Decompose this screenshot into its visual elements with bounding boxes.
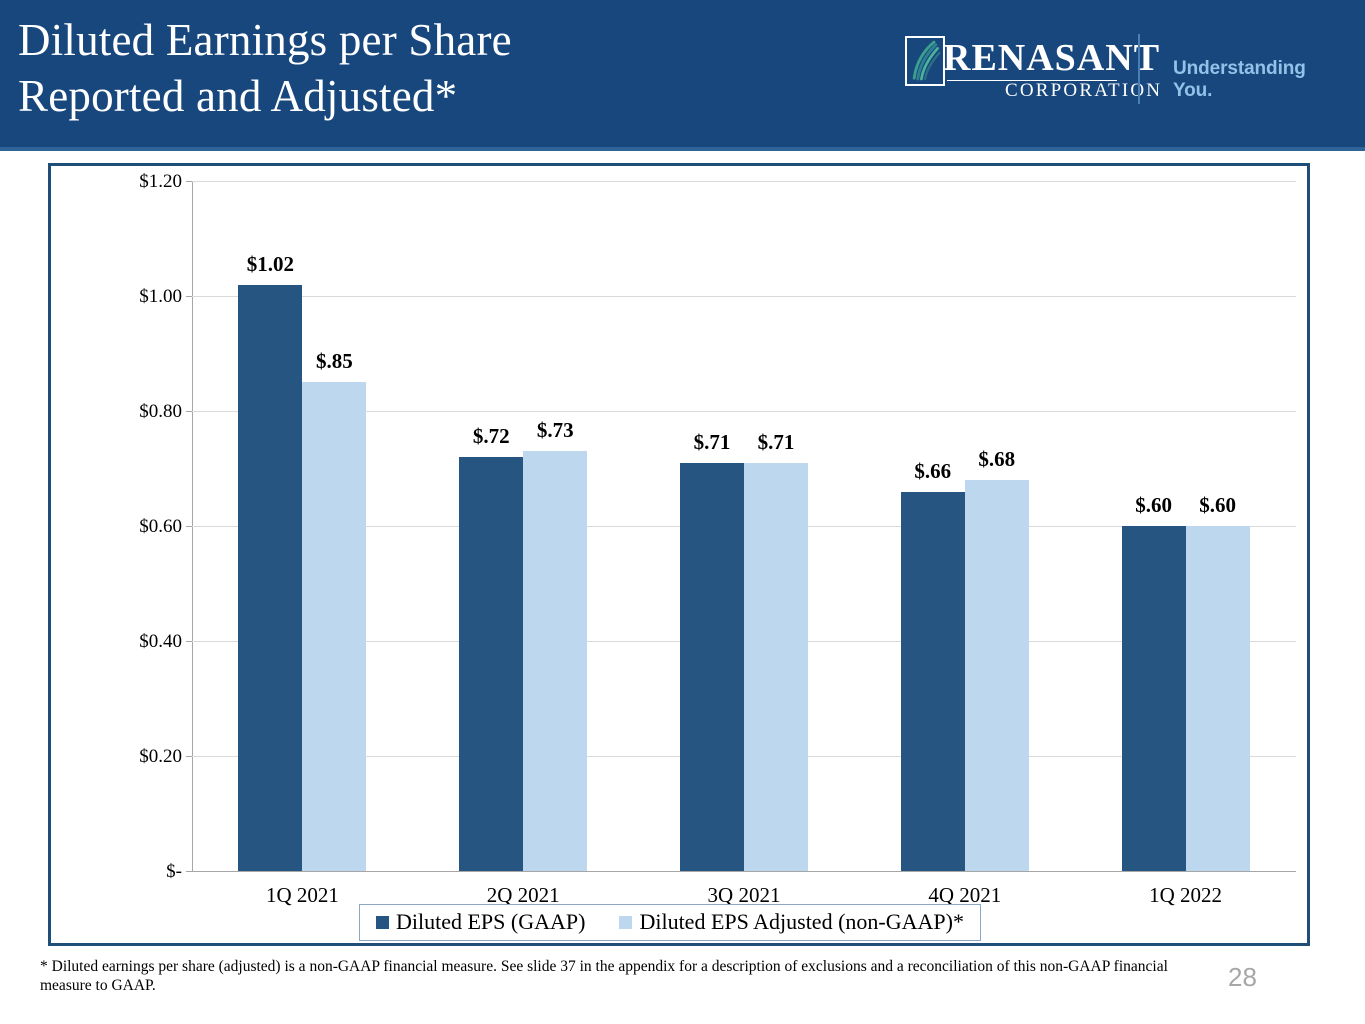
y-axis-tick: [186, 641, 192, 642]
renasant-logo: RENASANT CORPORATION Understanding You.: [905, 34, 1325, 106]
y-axis-tick-label: $0.80: [139, 402, 182, 421]
renasant-leaf-mark-icon: [905, 36, 945, 86]
legend-label-adjusted: Diluted EPS Adjusted (non-GAAP)*: [639, 911, 964, 933]
y-axis-tick: [186, 296, 192, 297]
y-axis-tick-label: $0.40: [139, 632, 182, 651]
bar-value-label: $.68: [947, 449, 1047, 470]
bar-gaap[interactable]: [1122, 526, 1186, 871]
page-title: Diluted Earnings per Share Reported and …: [18, 12, 838, 124]
bar-value-label: $.60: [1168, 495, 1268, 516]
y-axis-tick: [186, 526, 192, 527]
header-underline: [0, 147, 1365, 151]
bar-value-label: $.85: [284, 351, 384, 372]
chart-container: $1.20$1.00$0.80$0.60$0.40$0.20$- $1.02$.…: [48, 163, 1310, 946]
slide-root: Diluted Earnings per Share Reported and …: [0, 0, 1365, 1024]
x-axis-category-label: 4Q 2021: [854, 885, 1075, 906]
bar-adjusted[interactable]: [523, 451, 587, 871]
logo-wordmark: RENASANT: [943, 38, 1160, 78]
bar-gaap[interactable]: [901, 492, 965, 872]
y-axis-tick-label: $-: [166, 862, 182, 881]
legend-item-adjusted[interactable]: Diluted EPS Adjusted (non-GAAP)*: [619, 911, 964, 933]
bar-value-label: $.71: [726, 432, 826, 453]
y-axis-tick: [186, 756, 192, 757]
bar-adjusted[interactable]: [302, 382, 366, 871]
bar-gaap[interactable]: [238, 285, 302, 872]
bar-adjusted[interactable]: [1186, 526, 1250, 871]
legend-label-gaap: Diluted EPS (GAAP): [396, 911, 585, 933]
y-axis-tick: [186, 871, 192, 872]
gridline: [192, 871, 1296, 872]
plot-area: $1.02$.851Q 2021$.72$.732Q 2021$.71$.713…: [192, 181, 1296, 871]
y-axis-tick: [186, 181, 192, 182]
legend-item-gaap[interactable]: Diluted EPS (GAAP): [376, 911, 585, 933]
bar-gaap[interactable]: [680, 463, 744, 871]
y-axis-tick-label: $0.60: [139, 517, 182, 536]
bar-value-label: $.73: [505, 420, 605, 441]
legend-swatch-gaap-icon: [376, 916, 389, 929]
x-axis-category-label: 1Q 2022: [1075, 885, 1296, 906]
x-axis-category-label: 1Q 2021: [192, 885, 413, 906]
page-number: 28: [1228, 962, 1278, 992]
gridline: [192, 296, 1296, 297]
y-axis-labels: $1.20$1.00$0.80$0.60$0.40$0.20$-: [51, 181, 182, 871]
footnote: * Diluted earnings per share (adjusted) …: [40, 957, 1220, 995]
bar-adjusted[interactable]: [965, 480, 1029, 871]
chart-legend: Diluted EPS (GAAP) Diluted EPS Adjusted …: [359, 904, 981, 941]
y-axis-tick-label: $0.20: [139, 747, 182, 766]
bar-gaap[interactable]: [459, 457, 523, 871]
legend-swatch-adjusted-icon: [619, 916, 632, 929]
bar-adjusted[interactable]: [744, 463, 808, 871]
slide-header: Diluted Earnings per Share Reported and …: [0, 0, 1365, 147]
y-axis-tick-label: $1.00: [139, 287, 182, 306]
bar-value-label: $1.02: [220, 254, 320, 275]
x-axis-category-label: 3Q 2021: [634, 885, 855, 906]
logo-divider: [1138, 34, 1140, 104]
y-axis-tick-label: $1.20: [139, 172, 182, 191]
gridline: [192, 181, 1296, 182]
x-axis-category-label: 2Q 2021: [413, 885, 634, 906]
logo-tagline: Understanding You.: [1173, 58, 1325, 102]
y-axis-tick: [186, 411, 192, 412]
